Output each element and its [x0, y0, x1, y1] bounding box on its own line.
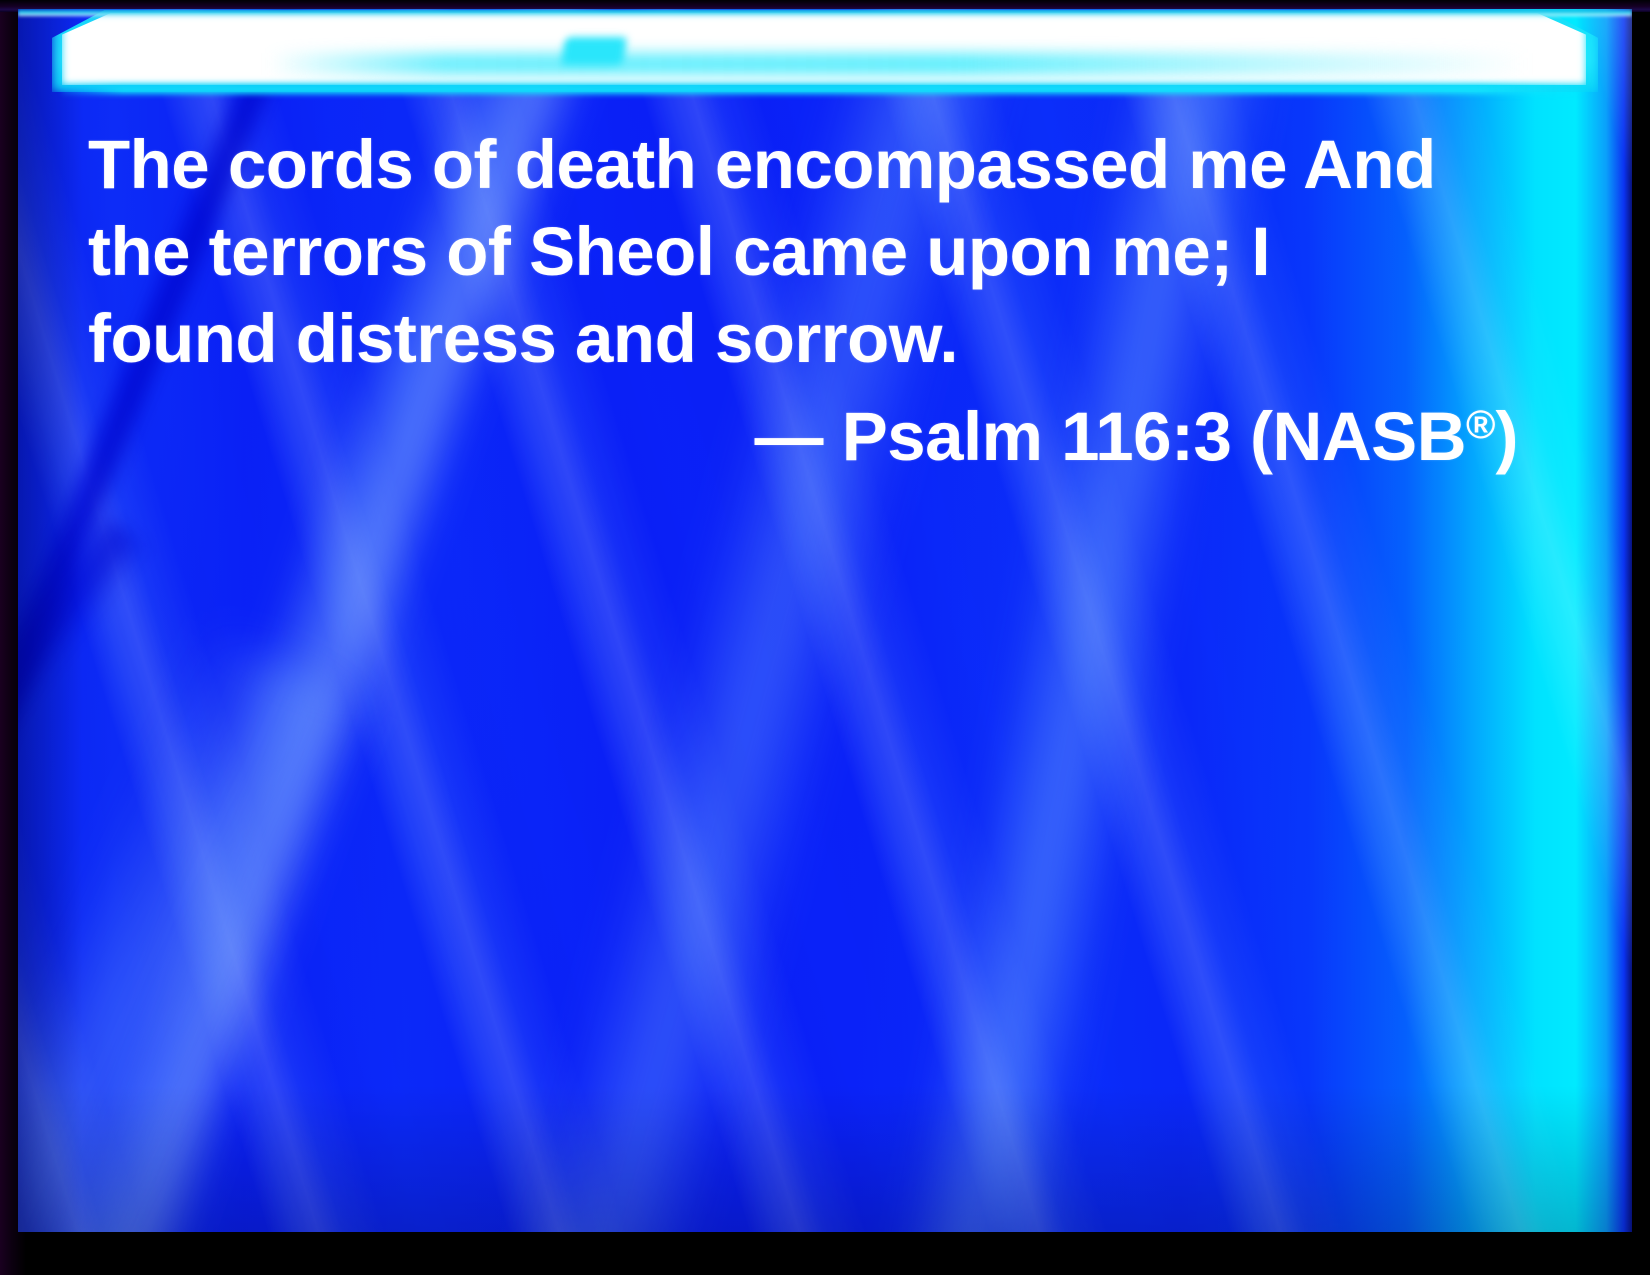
top-glow-cyan-underline — [62, 85, 1586, 94]
verse-text-block: The cords of death encompassed me And th… — [88, 121, 1568, 480]
reference-em-dash: — — [755, 398, 824, 475]
top-glow-cyan-hairline — [18, 9, 1632, 16]
reference-translation: NASB — [1273, 398, 1467, 475]
top-glow-cyan-blob — [561, 37, 627, 65]
verse-line-2: the terrors of Sheol came upon me; I — [88, 208, 1568, 295]
verse-line-3: found distress and sorrow. — [88, 295, 1568, 382]
top-glow-banner — [18, 9, 1632, 101]
reference-open-paren: ( — [1250, 398, 1272, 475]
top-glow-inner-cyan-streak — [268, 53, 1528, 75]
reference-close-paren: ) — [1496, 398, 1518, 475]
reference-book-chapter-verse: Psalm 116:3 — [842, 398, 1232, 475]
verse-reference: — Psalm 116:3 (NASB®) — [88, 382, 1568, 480]
verse-line-1: The cords of death encompassed me And — [88, 121, 1568, 208]
slide-canvas: The cords of death encompassed me And th… — [18, 9, 1632, 1232]
slide-frame: The cords of death encompassed me And th… — [0, 0, 1650, 1275]
registered-trademark-icon: ® — [1466, 403, 1495, 447]
